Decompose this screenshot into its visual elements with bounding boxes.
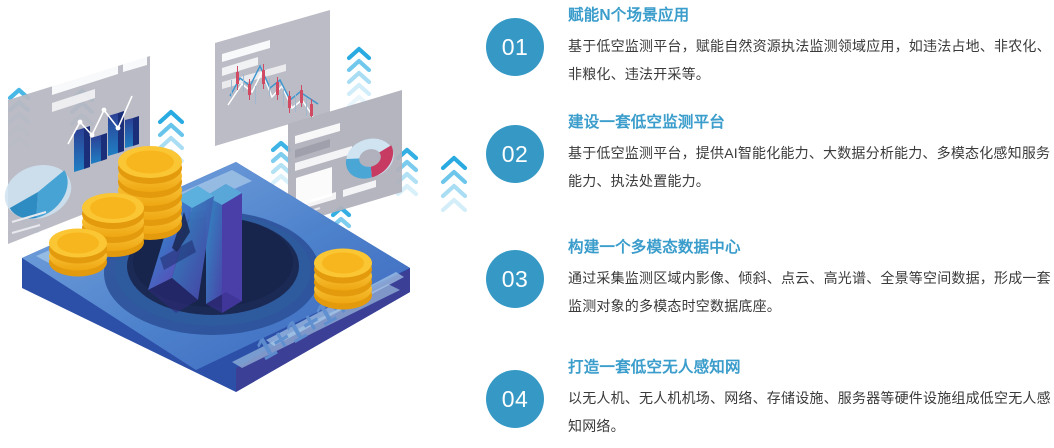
feature-title: 建设一套低空监测平台 [568, 113, 1054, 133]
feature-number-badge: 02 [486, 125, 544, 183]
feature-description: 基于低空监测平台，提供AI智能化能力、大数据分析能力、多模态化感知服务能力、执法… [568, 139, 1054, 195]
feature-description: 通过采集监测区域内影像、倾斜、点云、高光谱、全景等空间数据，形成一套监测对象的多… [568, 264, 1054, 320]
page-root: 1+1+1+N [0, 0, 1054, 448]
isometric-ai-platform-illustration: 1+1+1+N [0, 0, 480, 448]
feature-item-03: 03 构建一个多模态数据中心 通过采集监测区域内影像、倾斜、点云、高光谱、全景等… [486, 238, 1054, 320]
feature-title: 赋能N个场景应用 [568, 6, 1054, 26]
feature-text-block: 赋能N个场景应用 基于低空监测平台，赋能自然资源执法监测领域应用，如违法占地、非… [544, 6, 1054, 88]
feature-text-block: 构建一个多模态数据中心 通过采集监测区域内影像、倾斜、点云、高光谱、全景等空间数… [544, 238, 1054, 320]
feature-number-badge: 04 [486, 370, 544, 428]
feature-text-block: 打造一套低空无人感知网 以无人机、无人机机场、网络、存储设施、服务器等硬件设施组… [544, 358, 1054, 440]
feature-number-badge: 03 [486, 250, 544, 308]
feature-title: 构建一个多模态数据中心 [568, 238, 1054, 258]
feature-description: 以无人机、无人机机场、网络、存储设施、服务器等硬件设施组成低空无人感知网络。 [568, 384, 1054, 440]
feature-text-block: 建设一套低空监测平台 基于低空监测平台，提供AI智能化能力、大数据分析能力、多模… [544, 113, 1054, 195]
feature-item-02: 02 建设一套低空监测平台 基于低空监测平台，提供AI智能化能力、大数据分析能力… [486, 113, 1054, 195]
feature-title: 打造一套低空无人感知网 [568, 358, 1054, 378]
feature-item-01: 01 赋能N个场景应用 基于低空监测平台，赋能自然资源执法监测领域应用，如违法占… [486, 6, 1054, 88]
feature-description: 基于低空监测平台，赋能自然资源执法监测领域应用，如违法占地、非农化、非粮化、违法… [568, 32, 1054, 88]
feature-item-04: 04 打造一套低空无人感知网 以无人机、无人机机场、网络、存储设施、服务器等硬件… [486, 358, 1054, 440]
feature-number-badge: 01 [486, 18, 544, 76]
feature-list: 01 赋能N个场景应用 基于低空监测平台，赋能自然资源执法监测领域应用，如违法占… [486, 0, 1054, 448]
